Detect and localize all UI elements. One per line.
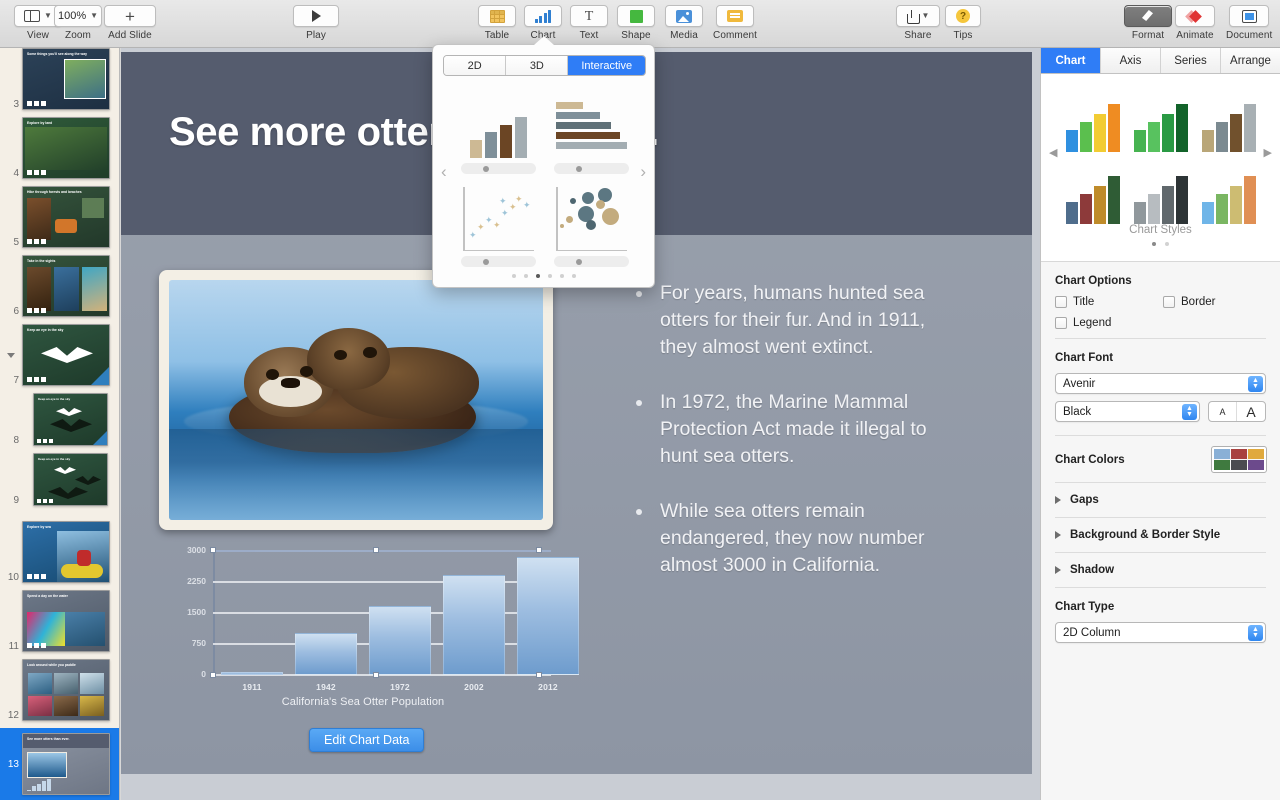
chart-style-5[interactable] <box>1131 158 1191 224</box>
bullet-text: For years, humans hunted sea otters for … <box>660 280 956 361</box>
thumbnail-title: Keep an eye in the sky <box>38 457 103 461</box>
chart-colors-section: Chart Colors <box>1041 447 1280 472</box>
thumbnail-title: Keep an eye in the sky <box>38 397 103 401</box>
next-page-arrow[interactable]: › <box>640 163 646 180</box>
thumbnail-title: Spend a day on the water <box>27 594 105 598</box>
interactive-column-chart[interactable] <box>455 89 542 176</box>
popover-page-dots[interactable] <box>433 274 654 278</box>
font-family-value: Avenir <box>1063 378 1095 390</box>
insert-shape-button[interactable]: Shape <box>617 5 655 41</box>
slide-number: 13 <box>0 759 22 770</box>
divider <box>1055 435 1266 436</box>
chart-bar[interactable] <box>517 557 579 675</box>
slide-number: 11 <box>0 641 22 652</box>
list-item: While sea otters remain endangered, they… <box>626 498 956 579</box>
chart-type-title: Chart Type <box>1055 601 1266 613</box>
chart-title: California's Sea Otter Population <box>161 696 565 708</box>
list-item: For years, humans hunted sea otters for … <box>626 280 956 361</box>
table-label: Table <box>485 30 509 41</box>
comment-label: Comment <box>713 30 757 41</box>
next-styles-arrow[interactable]: ▶ <box>1264 146 1272 159</box>
plus-icon: + <box>125 10 135 23</box>
chart-bar[interactable] <box>295 633 357 675</box>
chart-font-title: Chart Font <box>1055 352 1266 364</box>
thumbnail-title: See more otters than ever. <box>27 737 105 741</box>
selection-handle[interactable] <box>373 547 379 553</box>
thumbnail-title: Some things you'll see along the way <box>27 52 105 56</box>
chevron-down-icon: ▼ <box>922 12 930 20</box>
slide-number: 10 <box>0 572 22 583</box>
page-dot-active[interactable] <box>536 274 540 278</box>
keynote-window: ▼ View 100% ▼ Zoom + Add Slide Play <box>0 0 1280 800</box>
stepper-icon[interactable]: ▲▼ <box>1248 625 1263 641</box>
page-dot[interactable] <box>524 274 528 278</box>
insert-media-button[interactable]: Media <box>665 5 703 41</box>
thumbnail-image: Hike through forests and beaches <box>22 186 110 248</box>
slide-thumbnail-11[interactable]: 11 Spend a day on the water <box>0 590 120 652</box>
inspector-tab-group[interactable]: Chart Axis Series Arrange <box>1041 48 1280 74</box>
checkbox-label: Legend <box>1073 317 1111 329</box>
animate-button[interactable]: Animate <box>1175 5 1215 41</box>
slide-chart[interactable]: 3000 2250 1500 750 0 1911 1942 1972 2002… <box>161 544 565 714</box>
thumbnail-image: Take in the sights <box>22 255 110 317</box>
chart-slider-control[interactable] <box>554 163 629 174</box>
chart-options-section: Chart Options Title Border Legend <box>1041 275 1280 329</box>
bullet-dot <box>636 400 642 406</box>
thumbnail-image: Keep an eye in the sky <box>33 453 108 506</box>
checkbox-border[interactable]: Border <box>1163 296 1216 308</box>
thumbnail-image: Keep an eye in the sky <box>33 393 108 446</box>
page-dot[interactable] <box>548 274 552 278</box>
stepper-icon[interactable]: ▲▼ <box>1248 376 1263 392</box>
share-icon <box>907 10 918 23</box>
styles-page-dots[interactable] <box>1041 242 1280 246</box>
bullet-dot <box>636 509 642 515</box>
zoom-label: Zoom <box>65 30 91 41</box>
share-label: Share <box>904 30 931 41</box>
format-brush-icon <box>1140 9 1156 23</box>
sea-otter-photo <box>169 280 543 520</box>
chart-slider-control[interactable] <box>554 256 629 267</box>
text-label: Text <box>580 30 599 41</box>
selection-handle[interactable] <box>210 547 216 553</box>
accordion-label: Gaps <box>1070 494 1099 506</box>
checkbox-title[interactable]: Title <box>1055 296 1163 308</box>
play-label: Play <box>306 30 326 41</box>
chart-style-4[interactable] <box>1063 158 1123 224</box>
bullet-text: While sea otters remain endangered, they… <box>660 498 956 579</box>
popover-tab-group[interactable]: 2D 3D Interactive <box>443 55 646 76</box>
chart-bar[interactable] <box>221 672 283 675</box>
slide-number: 5 <box>0 237 22 248</box>
tab-interactive[interactable]: Interactive <box>568 56 645 75</box>
x-tick-label: 2012 <box>517 682 579 692</box>
document-icon <box>1242 10 1257 23</box>
thumbnail-title: Take in the sights <box>27 259 105 263</box>
insert-text-button[interactable]: T Text <box>570 5 608 41</box>
media-icon <box>676 10 692 23</box>
chart-type-value: 2D Column <box>1063 627 1121 639</box>
slide-thumbnail-5[interactable]: 5 Hike through forests and beaches <box>0 186 120 248</box>
main-toolbar: ▼ View 100% ▼ Zoom + Add Slide Play <box>0 0 1280 48</box>
slide-number: 4 <box>0 168 22 179</box>
thumbnail-title: Look around while you paddle <box>27 663 105 667</box>
chevron-right-icon <box>1055 531 1061 539</box>
checkbox-box[interactable] <box>1055 317 1067 329</box>
y-tick-label: 3000 <box>187 545 206 555</box>
tips-button[interactable]: ? Tips <box>945 5 981 41</box>
bullet-dot <box>636 291 642 297</box>
play-icon <box>312 10 321 22</box>
table-icon <box>490 10 505 23</box>
thumbnail-image: Explore by land <box>22 117 110 179</box>
page-dot[interactable] <box>1165 242 1169 246</box>
list-item: In 1972, the Marine Mammal Protection Ac… <box>626 389 956 470</box>
chart-bar[interactable] <box>369 606 431 675</box>
slide-bullet-list[interactable]: For years, humans hunted sea otters for … <box>626 280 956 607</box>
tips-label: Tips <box>954 30 973 41</box>
selection-handle[interactable] <box>210 672 216 678</box>
accordion-background-border-style[interactable]: Background & Border Style <box>1041 518 1280 552</box>
slide-number: 8 <box>0 435 22 446</box>
chart-plot-area: 3000 2250 1500 750 0 1911 1942 1972 2002… <box>213 550 551 675</box>
font-size-buttons[interactable]: A A <box>1208 401 1266 422</box>
chart-slider-control[interactable] <box>461 256 536 267</box>
checkbox-legend[interactable]: Legend <box>1055 317 1111 329</box>
slide-thumbnail-4[interactable]: 4 Explore by land <box>0 117 120 179</box>
x-tick-label: 1972 <box>369 682 431 692</box>
comment-icon <box>727 10 743 22</box>
chart-type-select[interactable]: 2D Column ▲▼ <box>1055 622 1266 643</box>
selection-handle[interactable] <box>536 547 542 553</box>
slide-number: 6 <box>0 306 22 317</box>
font-weight-select[interactable]: Black ▲▼ <box>1055 401 1200 422</box>
thumbnail-title: Explore by land <box>27 121 105 125</box>
chevron-right-icon <box>1055 496 1061 504</box>
page-dot[interactable] <box>572 274 576 278</box>
chart-options-title: Chart Options <box>1055 275 1266 287</box>
animate-diamond-icon <box>1187 10 1203 23</box>
chart-colors-swatches[interactable] <box>1212 447 1266 472</box>
thumbnail-image: Spend a day on the water <box>22 590 110 652</box>
interactive-bubble-chart[interactable] <box>548 182 635 269</box>
chart-slider-control[interactable] <box>461 163 536 174</box>
zoom-value: 100% <box>58 10 86 22</box>
slide-photo-frame[interactable] <box>159 270 553 530</box>
x-tick-label: 1911 <box>221 682 283 692</box>
thumbnail-image: Look around while you paddle <box>22 659 110 721</box>
add-slide-button[interactable]: + Add Slide <box>104 5 156 41</box>
thumbnail-image: Some things you'll see along the way <box>22 48 110 110</box>
tab-chart[interactable]: Chart <box>1041 48 1101 73</box>
shape-label: Shape <box>621 30 650 41</box>
zoom-button[interactable]: 100% ▼ Zoom <box>54 5 102 41</box>
interactive-scatter-chart[interactable]: ✦ ✦ ✦ ✦ ✦ ✦ ✦ ✦ ✦ <box>455 182 542 269</box>
tips-icon: ? <box>956 9 970 23</box>
checkbox-label: Title <box>1073 296 1094 308</box>
edit-chart-data-button[interactable]: Edit Chart Data <box>309 728 424 752</box>
divider <box>1055 587 1266 588</box>
chart-styles-caption: Chart Styles <box>1041 224 1280 236</box>
chart-style-6[interactable] <box>1199 158 1259 224</box>
thumbnail-image: Keep an eye in the sky <box>22 324 110 386</box>
accordion-label: Shadow <box>1070 564 1114 576</box>
chart-thumbnail-grid: ✦ ✦ ✦ ✦ ✦ ✦ ✦ ✦ ✦ <box>455 89 635 269</box>
play-button[interactable]: Play <box>293 5 339 41</box>
thumbnail-image: Explore by sea <box>22 521 110 583</box>
chart-type-section: Chart Type 2D Column ▲▼ <box>1041 601 1280 643</box>
prev-styles-arrow[interactable]: ◀ <box>1049 146 1057 159</box>
slide-thumbnail-8[interactable]: 8 Keep an eye in the sky <box>0 393 120 446</box>
view-icon <box>24 10 40 22</box>
group-disclosure-triangle[interactable] <box>7 353 15 358</box>
slide-thumbnail-9[interactable]: 9 Keep an eye in the sky <box>0 453 120 506</box>
interactive-bar-chart[interactable] <box>548 89 635 176</box>
chart-colors-title: Chart Colors <box>1055 454 1125 466</box>
tab-axis[interactable]: Axis <box>1101 48 1161 73</box>
slide-thumbnail-6[interactable]: 6 Take in the sights <box>0 255 120 317</box>
slide-thumbnail-3[interactable]: 3 Some things you'll see along the way <box>0 48 120 110</box>
add-slide-label: Add Slide <box>108 30 152 41</box>
accordion-shadow[interactable]: Shadow <box>1041 553 1280 587</box>
tab-3d[interactable]: 3D <box>506 56 568 75</box>
prev-page-arrow[interactable]: ‹ <box>441 163 447 180</box>
chart-type-popover[interactable]: 2D 3D Interactive <box>432 44 655 288</box>
checkbox-box[interactable] <box>1055 296 1067 308</box>
format-label: Format <box>1132 30 1164 41</box>
page-dot-active[interactable] <box>1152 242 1156 246</box>
tab-2d[interactable]: 2D <box>444 56 506 75</box>
format-inspector: Chart Axis Series Arrange ◀ ▶ <box>1040 48 1280 800</box>
checkbox-box[interactable] <box>1163 296 1175 308</box>
document-label: Document <box>1226 30 1272 41</box>
tab-arrange[interactable]: Arrange <box>1221 48 1280 73</box>
bullet-text: In 1972, the Marine Mammal Protection Ac… <box>660 389 956 470</box>
chart-style-3[interactable] <box>1199 86 1259 152</box>
accordion-label: Background & Border Style <box>1070 529 1220 541</box>
page-dot[interactable] <box>560 274 564 278</box>
slide-navigator[interactable]: 3 Some things you'll see along the way 4… <box>0 48 120 800</box>
font-family-select[interactable]: Avenir ▲▼ <box>1055 373 1266 394</box>
insert-table-button[interactable]: Table <box>478 5 516 41</box>
media-label: Media <box>670 30 698 41</box>
slide-thumbnail-10[interactable]: 10 Explore by sea <box>0 521 120 583</box>
gridline: 3000 <box>213 550 551 552</box>
popover-arrow <box>534 36 554 45</box>
selection-handle[interactable] <box>373 672 379 678</box>
chart-style-1[interactable] <box>1063 86 1123 152</box>
y-tick-label: 1500 <box>187 607 206 617</box>
y-tick-label: 0 <box>201 669 206 679</box>
chart-style-2[interactable] <box>1131 86 1191 152</box>
slide-thumbnail-12[interactable]: 12 Look around while you paddle <box>0 659 120 721</box>
page-dot[interactable] <box>512 274 516 278</box>
selection-handle[interactable] <box>536 672 542 678</box>
slide-thumbnail-13[interactable]: 13 See more otters than ever. <box>0 728 120 800</box>
shape-icon <box>630 10 643 23</box>
slide-number: 9 <box>0 495 22 506</box>
decrease-font-size-button[interactable]: A <box>1209 402 1237 421</box>
chart-font-section: Chart Font Avenir ▲▼ Black ▲▼ A A <box>1041 352 1280 422</box>
text-icon: T <box>585 10 594 23</box>
y-tick-label: 750 <box>192 638 206 648</box>
thumbnail-image: See more otters than ever. <box>22 733 110 795</box>
chart-icon <box>535 10 551 23</box>
chart-bar[interactable] <box>443 575 505 675</box>
thumbnail-title: Explore by sea <box>27 525 105 529</box>
x-tick-label: 1942 <box>295 682 357 692</box>
chevron-right-icon <box>1055 566 1061 574</box>
format-button[interactable]: Format <box>1124 5 1172 41</box>
view-label: View <box>27 30 49 41</box>
tab-series[interactable]: Series <box>1161 48 1221 73</box>
thumbnail-title: Hike through forests and beaches <box>27 190 105 194</box>
animate-label: Animate <box>1176 30 1213 41</box>
chevron-down-icon: ▼ <box>44 12 52 20</box>
slide-number: 7 <box>0 375 22 386</box>
divider <box>1055 338 1266 339</box>
stepper-icon[interactable]: ▲▼ <box>1182 404 1197 420</box>
thumbnail-title: Keep an eye in the sky <box>27 328 105 332</box>
document-button[interactable]: Document <box>1226 5 1272 41</box>
increase-font-size-button[interactable]: A <box>1237 402 1265 421</box>
insert-comment-button[interactable]: Comment <box>713 5 757 41</box>
accordion-gaps[interactable]: Gaps <box>1041 483 1280 517</box>
y-tick-label: 2250 <box>187 576 206 586</box>
font-weight-value: Black <box>1063 406 1091 418</box>
x-tick-label: 2002 <box>443 682 505 692</box>
slide-number: 3 <box>0 99 22 110</box>
checkbox-label: Border <box>1181 296 1216 308</box>
chart-styles-picker[interactable]: ◀ ▶ <box>1041 74 1280 262</box>
slide-thumbnail-7[interactable]: 7 Keep an eye in the sky <box>0 324 120 386</box>
share-button[interactable]: ▼ Share <box>896 5 940 41</box>
slide-number: 12 <box>0 710 22 721</box>
chevron-down-icon: ▼ <box>90 12 98 20</box>
